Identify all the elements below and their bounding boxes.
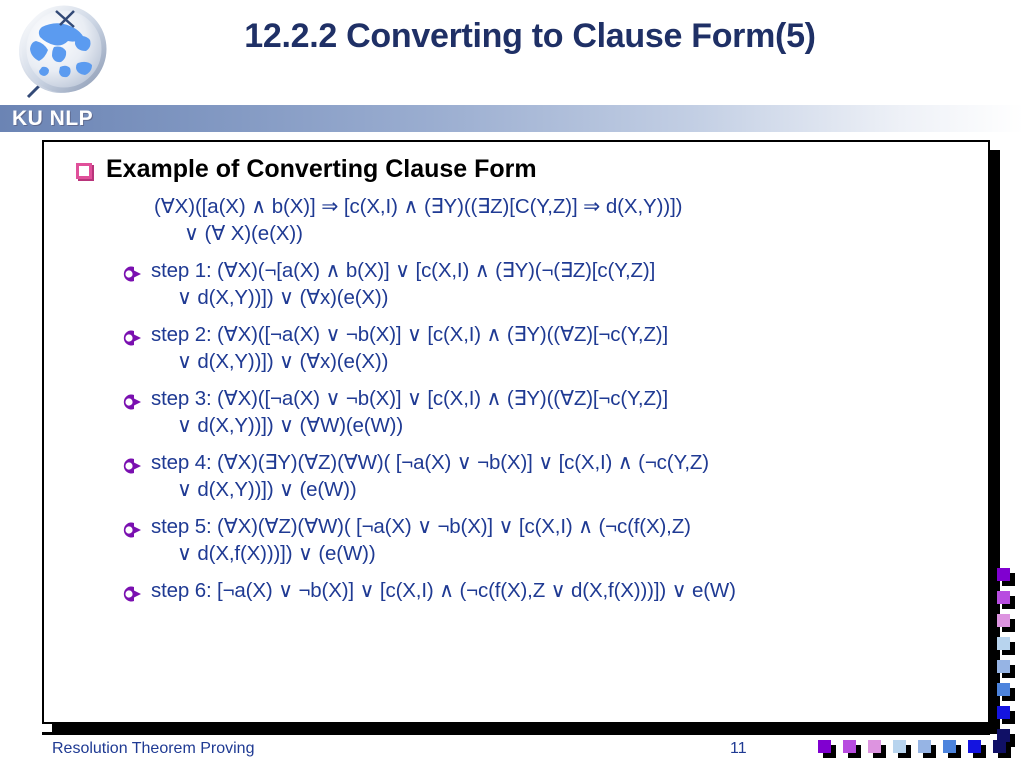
step-text: step 6: [¬a(X) ∨ ¬b(X)] ∨ [c(X,I) ∧ (¬c(… [151, 577, 736, 604]
arrow-bullet-icon [120, 263, 142, 285]
decorative-square [997, 614, 1010, 627]
step-line-2: ∨ d(X,Y))]) ∨ (e(W)) [177, 476, 709, 503]
step-line-1: (∀X)(∃Y)(∀Z)(∀W)( [¬a(X) ∨ ¬b(X)] ∨ [c(X… [217, 451, 709, 474]
decorative-square [997, 706, 1010, 719]
step-row: step 6: [¬a(X) ∨ ¬b(X)] ∨ [c(X,I) ∧ (¬c(… [120, 577, 982, 605]
original-formula: (∀X)([a(X) ∧ b(X)] ⇒ [c(X,I) ∧ (∃Y)((∃Z)… [154, 193, 982, 247]
square-bullet-icon [76, 163, 92, 179]
step-text: step 1: (∀X)(¬[a(X) ∧ b(X)] ∨ [c(X,I) ∧ … [151, 257, 655, 311]
step-line-2: ∨ d(X,f(X)))]) ∨ (e(W)) [177, 540, 691, 567]
step-label: step 2: [151, 323, 217, 346]
step-text: step 4: (∀X)(∃Y)(∀Z)(∀W)( [¬a(X) ∨ ¬b(X)… [151, 449, 709, 503]
step-line-2: ∨ d(X,Y))]) ∨ (∀x)(e(X)) [177, 284, 655, 311]
footer-divider [42, 732, 990, 735]
decorative-square [918, 740, 931, 753]
step-text: step 3: (∀X)([¬a(X) ∨ ¬b(X)] ∨ [c(X,I) ∧… [151, 385, 668, 439]
decorative-square [868, 740, 881, 753]
arrow-bullet-icon [120, 327, 142, 349]
arrow-bullet-icon [120, 583, 142, 605]
org-label: KU NLP [12, 107, 93, 131]
decorative-square [997, 591, 1010, 604]
step-line-2: ∨ d(X,Y))]) ∨ (∀W)(e(W)) [177, 412, 668, 439]
decorative-square [968, 740, 981, 753]
decorative-square [997, 683, 1010, 696]
decorative-square [943, 740, 956, 753]
page-number: 11 [730, 740, 747, 758]
step-text: step 5: (∀X)(∀Z)(∀W)( [¬a(X) ∨ ¬b(X)] ∨ … [151, 513, 691, 567]
step-label: step 3: [151, 387, 217, 410]
step-line-1: (∀X)(∀Z)(∀W)( [¬a(X) ∨ ¬b(X)] ∨ [c(X,I) … [217, 515, 691, 538]
formula-line-2: ∨ (∀ X)(e(X)) [184, 220, 982, 247]
content-box: Example of Converting Clause Form (∀X)([… [42, 140, 990, 724]
decorative-square [893, 740, 906, 753]
arrow-bullet-icon [120, 519, 142, 541]
decorative-square [843, 740, 856, 753]
step-row: step 3: (∀X)([¬a(X) ∨ ¬b(X)] ∨ [c(X,I) ∧… [120, 385, 982, 439]
decorative-square [993, 740, 1006, 753]
step-line-1: (∀X)([¬a(X) ∨ ¬b(X)] ∨ [c(X,I) ∧ (∃Y)((∀… [217, 323, 668, 346]
step-text: step 2: (∀X)([¬a(X) ∨ ¬b(X)] ∨ [c(X,I) ∧… [151, 321, 668, 375]
globe-logo [8, 5, 116, 117]
formula-line-1: (∀X)([a(X) ∧ b(X)] ⇒ [c(X,I) ∧ (∃Y)((∃Z)… [154, 195, 682, 218]
page-title: 12.2.2 Converting to Clause Form(5) [150, 16, 910, 56]
arrow-bullet-icon [120, 391, 142, 413]
step-label: step 1: [151, 259, 217, 282]
decorative-squares-column [997, 568, 1021, 752]
slide: 12.2.2 Converting to Clause Form(5) KU N… [0, 0, 1024, 768]
step-label: step 4: [151, 451, 217, 474]
step-line-2: ∨ d(X,Y))]) ∨ (∀x)(e(X)) [177, 348, 668, 375]
content-heading-row: Example of Converting Clause Form [76, 156, 982, 184]
step-label: step 5: [151, 515, 217, 538]
decorative-squares-row [818, 740, 1018, 753]
decorative-square [818, 740, 831, 753]
header-bar [0, 105, 1024, 132]
step-row: step 4: (∀X)(∃Y)(∀Z)(∀W)( [¬a(X) ∨ ¬b(X)… [120, 449, 982, 503]
decorative-square [997, 637, 1010, 650]
step-row: step 5: (∀X)(∀Z)(∀W)( [¬a(X) ∨ ¬b(X)] ∨ … [120, 513, 982, 567]
step-line-1: (∀X)(¬[a(X) ∧ b(X)] ∨ [c(X,I) ∧ (∃Y)(¬(∃… [217, 259, 655, 282]
step-row: step 2: (∀X)([¬a(X) ∨ ¬b(X)] ∨ [c(X,I) ∧… [120, 321, 982, 375]
content-heading: Example of Converting Clause Form [106, 156, 537, 184]
footer-text: Resolution Theorem Proving [52, 740, 254, 758]
step-line-1: (∀X)([¬a(X) ∨ ¬b(X)] ∨ [c(X,I) ∧ (∃Y)((∀… [217, 387, 668, 410]
decorative-square [997, 568, 1010, 581]
decorative-square [997, 660, 1010, 673]
arrow-bullet-icon [120, 455, 142, 477]
step-label: step 6: [151, 579, 217, 602]
step-line-1: [¬a(X) ∨ ¬b(X)] ∨ [c(X,I) ∧ (¬c(f(X),Z ∨… [217, 579, 736, 602]
step-row: step 1: (∀X)(¬[a(X) ∧ b(X)] ∨ [c(X,I) ∧ … [120, 257, 982, 311]
